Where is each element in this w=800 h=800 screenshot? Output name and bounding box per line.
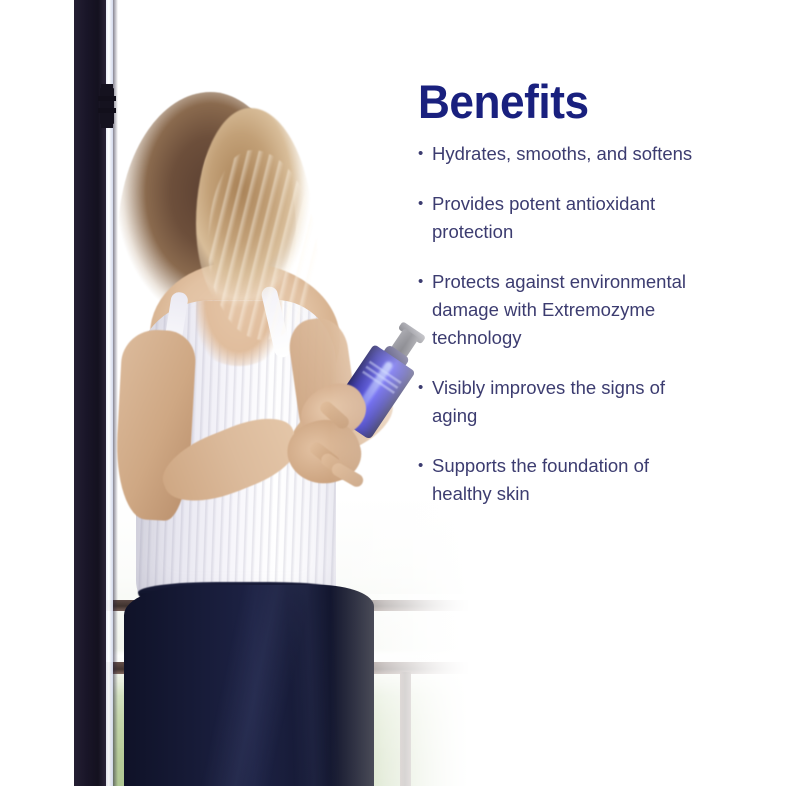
marketing-graphic: Benefits Hydrates, smooths, and softens … [0, 0, 800, 800]
list-item: Hydrates, smooths, and softens [418, 140, 694, 168]
benefits-list: Hydrates, smooths, and softens Provides … [418, 140, 694, 530]
left-white-margin [0, 0, 74, 800]
list-item: Provides potent antioxidant protection [418, 190, 694, 246]
benefits-panel: Benefits Hydrates, smooths, and softens … [470, 0, 800, 800]
page-title: Benefits [418, 78, 589, 125]
skirt-folds [124, 585, 374, 800]
list-item: Protects against environmental damage wi… [418, 268, 694, 352]
bottom-white-margin [0, 786, 470, 800]
list-item: Visibly improves the signs of aging [418, 374, 694, 430]
product-lifestyle-photo [0, 0, 470, 800]
list-item: Supports the foundation of healthy skin [418, 452, 694, 508]
